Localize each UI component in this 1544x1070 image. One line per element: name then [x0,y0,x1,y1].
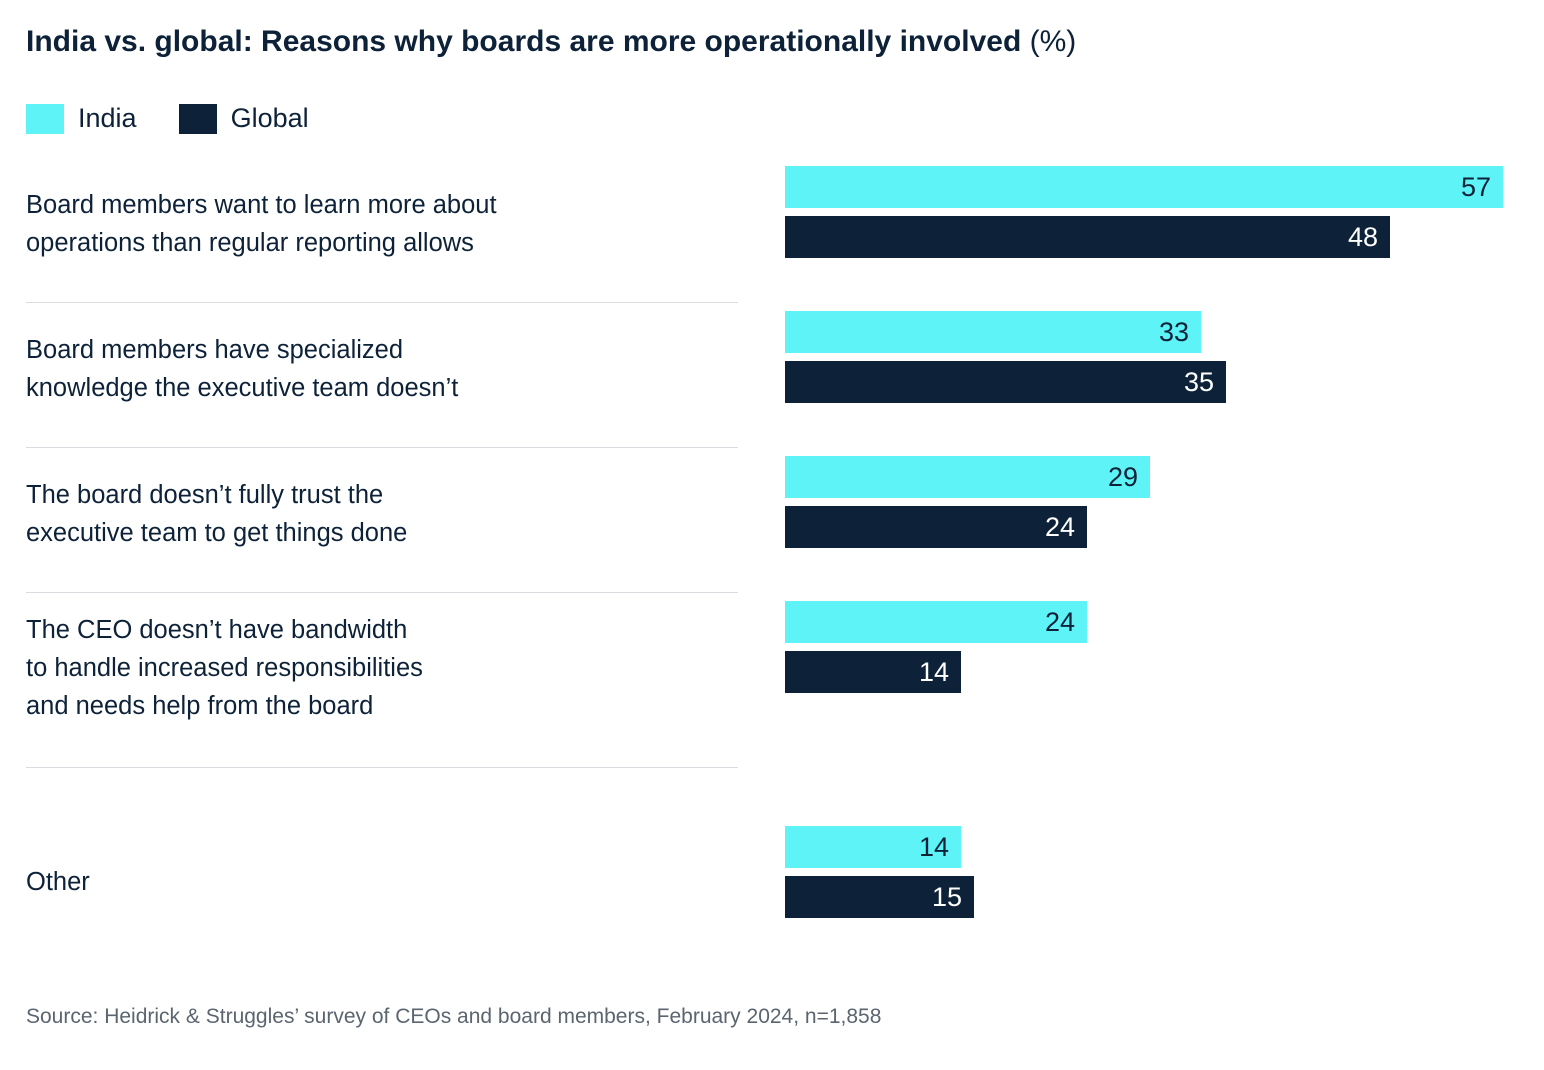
bar-india [785,456,1150,498]
row-category-label-line: Other [26,863,746,901]
bar-india [785,311,1201,353]
row-category-label-line: knowledge the executive team doesn’t [26,369,746,407]
chart-page: India vs. global: Reasons why boards are… [0,0,1544,1070]
bar-value-label: 24 [1035,506,1075,548]
page-title-unit: (%) [1030,25,1077,58]
page-title: India vs. global: Reasons why boards are… [26,22,1076,62]
bar-value-label: 14 [909,651,949,693]
row-category-label-line: executive team to get things done [26,514,746,552]
bar-india [785,166,1503,208]
row-category-label: Board members want to learn more aboutop… [26,186,746,262]
chart-row: Other1415 [0,768,1544,918]
bar-value-label: 57 [1451,166,1491,208]
chart-row: The board doesn’t fully trust theexecuti… [0,448,1544,593]
row-category-label-line: and needs help from the board [26,687,746,725]
chart-row: The CEO doesn’t have bandwidthto handle … [0,593,1544,768]
row-category-label-line: Board members want to learn more about [26,186,746,224]
chart-rows: Board members want to learn more aboutop… [0,158,1544,918]
legend-item-global: Global [179,103,351,134]
row-category-label: Other [26,863,746,901]
legend-label-global: Global [231,103,309,134]
row-category-label: The board doesn’t fully trust theexecuti… [26,476,746,552]
chart-row: Board members have specializedknowledge … [0,303,1544,448]
bar-value-label: 15 [922,876,962,918]
bar-value-label: 35 [1174,361,1214,403]
row-category-label-line: The CEO doesn’t have bandwidth [26,611,746,649]
chart-legend: India Global [26,103,351,134]
legend-label-india: India [78,103,137,134]
legend-item-india: India [26,103,179,134]
row-category-label-line: to handle increased responsibilities [26,649,746,687]
bar-value-label: 14 [909,826,949,868]
legend-swatch-global [179,104,217,134]
row-category-label: Board members have specializedknowledge … [26,331,746,407]
bar-value-label: 29 [1098,456,1138,498]
row-category-label-line: The board doesn’t fully trust the [26,476,746,514]
legend-swatch-india [26,104,64,134]
row-category-label: The CEO doesn’t have bandwidthto handle … [26,611,746,725]
row-category-label-line: operations than regular reporting allows [26,224,746,262]
chart-row: Board members want to learn more aboutop… [0,158,1544,303]
bar-global [785,361,1226,403]
row-category-label-line: Board members have specialized [26,331,746,369]
bar-global [785,216,1390,258]
source-note: Source: Heidrick & Struggles’ survey of … [26,1005,881,1029]
page-title-main: India vs. global: Reasons why boards are… [26,25,1021,58]
bar-value-label: 48 [1338,216,1378,258]
bar-value-label: 33 [1149,311,1189,353]
bar-value-label: 24 [1035,601,1075,643]
